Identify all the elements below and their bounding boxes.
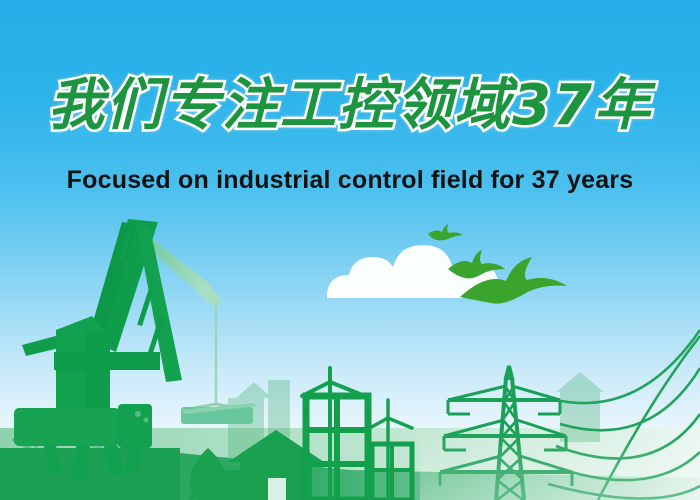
lower-right-haze — [420, 430, 700, 500]
crane-cab — [118, 404, 152, 448]
industrial-control-banner: 我们专注工控领域37年 Focused on industrial contro… — [0, 0, 700, 500]
house-door — [268, 478, 286, 500]
bird-medium-icon — [448, 250, 505, 279]
bird-small-icon — [428, 224, 463, 240]
hanging-container — [181, 403, 258, 424]
crane-body — [14, 408, 120, 446]
ground-left-solid — [0, 448, 180, 500]
crane-cab-light-2 — [144, 418, 149, 423]
house-annex — [214, 470, 244, 500]
banner-illustration — [0, 0, 700, 500]
crane-cab-light — [135, 411, 141, 417]
tower-peak — [506, 366, 512, 378]
